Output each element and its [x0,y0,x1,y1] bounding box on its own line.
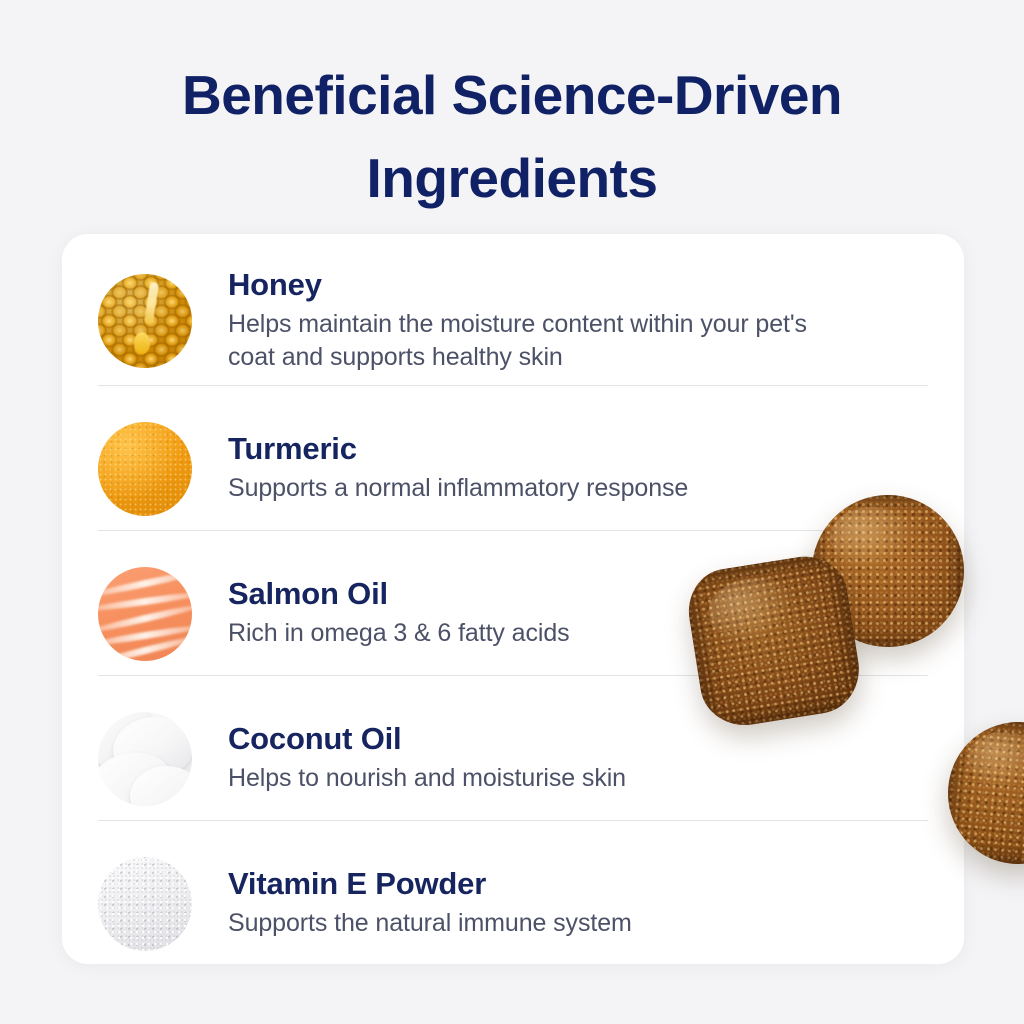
ingredient-text: Coconut Oil Helps to nourish and moistur… [228,721,928,795]
turmeric-powder-icon [98,422,192,516]
ingredient-name: Coconut Oil [228,721,928,758]
dog-treat-square-lower-image [683,550,866,731]
dog-treat-edge-right-image [942,716,1024,870]
coconut-oil-icon [98,712,192,806]
ingredient-description: Supports a normal inflammatory response [228,472,848,506]
divider [98,820,928,821]
page-title: Beneficial Science-Driven Ingredients [0,54,1024,219]
vitamin-e-powder-icon [98,857,192,951]
ingredient-description: Helps to nourish and moisturise skin [228,762,848,796]
ingredient-name: Honey [228,267,928,304]
salmon-fillet-icon [98,567,192,661]
divider [98,530,928,531]
ingredient-name: Turmeric [228,431,928,468]
honeycomb-icon [98,274,192,368]
list-item: Vitamin E Powder Supports the natural im… [98,831,928,976]
ingredient-description: Supports the natural immune system [228,907,848,941]
ingredient-text: Vitamin E Powder Supports the natural im… [228,866,928,940]
ingredient-text: Honey Helps maintain the moisture conten… [228,267,928,375]
list-item: Honey Helps maintain the moisture conten… [98,246,928,396]
ingredient-name: Vitamin E Powder [228,866,928,903]
divider [98,385,928,386]
ingredient-description: Helps maintain the moisture content with… [228,308,848,375]
list-item: Turmeric Supports a normal inflammatory … [98,396,928,541]
